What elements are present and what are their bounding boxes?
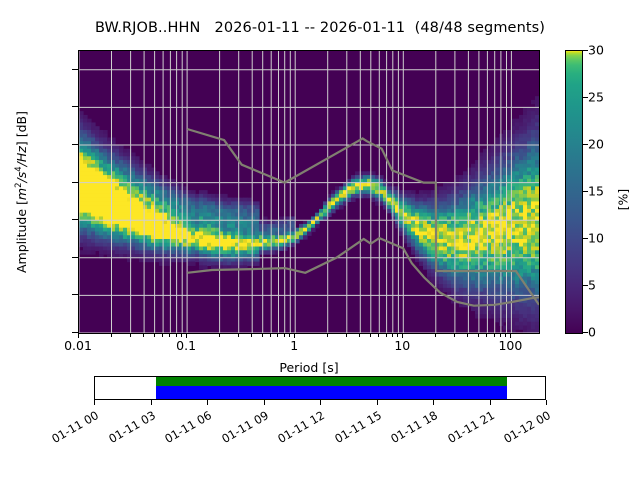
colorbar-title: [%]: [615, 189, 630, 211]
colorbar-tick-label: 25: [588, 90, 604, 105]
x-tick-mark: [130, 334, 131, 337]
timeline-tick-mark: [433, 400, 434, 405]
x-tick-mark: [467, 334, 468, 337]
ppsd-canvas: [79, 51, 539, 333]
x-tick-mark: [169, 334, 170, 337]
x-tick-mark: [359, 334, 360, 337]
y-tick-mark: [72, 69, 78, 70]
colorbar-tick-label: 30: [588, 43, 604, 58]
ppsd-figure: BW.RJOB..HHN 2026-01-11 -- 2026-01-11 (4…: [0, 0, 640, 480]
timeline-tick-label: 01-11 03: [102, 408, 157, 448]
x-tick-mark: [435, 334, 436, 337]
colorbar-tick-label: 20: [588, 137, 604, 152]
x-tick-mark: [251, 334, 252, 337]
x-tick-mark: [111, 334, 112, 337]
timeline-tick-mark: [546, 400, 547, 405]
x-tick-mark: [262, 334, 263, 337]
colorbar-gradient: [566, 51, 582, 333]
x-tick-mark: [154, 334, 155, 337]
x-tick-mark: [494, 334, 495, 337]
timeline-tick-mark: [320, 400, 321, 405]
timeline-tick-mark: [490, 400, 491, 405]
x-tick-mark: [270, 334, 271, 337]
colorbar-tick-mark: [583, 285, 588, 286]
x-tick-mark: [397, 334, 398, 337]
timeline-tick-label: 01-11 18: [385, 408, 440, 448]
coverage-timeline[interactable]: [94, 376, 546, 400]
timeline-tick-label: 01-12 00: [498, 408, 553, 448]
y-tick-mark: [72, 294, 78, 295]
x-tick-label: 1: [290, 338, 298, 353]
x-tick-label: 0.01: [64, 338, 92, 353]
colorbar-tick-mark: [583, 97, 588, 98]
x-tick-mark: [478, 334, 479, 337]
colorbar-tick-mark: [583, 238, 588, 239]
x-tick-mark: [143, 334, 144, 337]
x-tick-mark: [162, 334, 163, 337]
x-tick-mark: [238, 334, 239, 337]
x-tick-mark: [505, 334, 506, 337]
colorbar-tick-label: 5: [588, 278, 596, 293]
colorbar-tick-label: 0: [588, 325, 596, 340]
timeline-tick-label: 01-11 21: [441, 408, 496, 448]
timeline-tick-mark: [94, 400, 95, 405]
timeline-tick-label: 01-11 00: [46, 408, 101, 448]
y-tick-mark: [72, 182, 78, 183]
timeline-tick-label: 01-11 15: [328, 408, 383, 448]
timeline-tick-mark: [207, 400, 208, 405]
colorbar[interactable]: [565, 50, 583, 334]
colorbar-tick-mark: [583, 191, 588, 192]
ppsd-density-cloud: [79, 96, 539, 333]
x-tick-mark: [289, 334, 290, 337]
x-tick-mark: [219, 334, 220, 337]
x-tick-mark: [378, 334, 379, 337]
x-tick-label: 10: [394, 338, 410, 353]
timeline-data-available: [156, 386, 507, 399]
y-axis-title: Amplitude [m2/s4/Hz] [dB]: [14, 50, 29, 334]
x-tick-mark: [284, 334, 285, 337]
timeline-tick-mark: [377, 400, 378, 405]
x-tick-label: 100: [498, 338, 522, 353]
x-tick-mark: [486, 334, 487, 337]
x-tick-mark: [370, 334, 371, 337]
colorbar-tick-mark: [583, 144, 588, 145]
x-tick-mark: [176, 334, 177, 337]
x-tick-mark: [181, 334, 182, 337]
x-tick-mark: [277, 334, 278, 337]
y-tick-mark: [72, 257, 78, 258]
y-tick-mark: [72, 144, 78, 145]
figure-title: BW.RJOB..HHN 2026-01-11 -- 2026-01-11 (4…: [0, 20, 640, 36]
x-tick-mark: [346, 334, 347, 337]
x-tick-mark: [386, 334, 387, 337]
x-tick-label: 0.1: [176, 338, 196, 353]
y-tick-mark: [72, 219, 78, 220]
colorbar-tick-mark: [583, 332, 588, 333]
x-tick-mark: [500, 334, 501, 337]
colorbar-tick-mark: [583, 50, 588, 51]
timeline-used-segments: [156, 377, 507, 386]
y-tick-mark: [72, 106, 78, 107]
y-tick-mark: [72, 332, 78, 333]
timeline-tick-mark: [151, 400, 152, 405]
timeline-tick-label: 01-11 09: [215, 408, 270, 448]
x-tick-mark: [454, 334, 455, 337]
x-tick-mark: [392, 334, 393, 337]
timeline-tick-label: 01-11 06: [159, 408, 214, 448]
x-tick-mark: [327, 334, 328, 337]
colorbar-tick-label: 10: [588, 231, 604, 246]
timeline-tick-label: 01-11 12: [272, 408, 327, 448]
colorbar-tick-label: 15: [588, 184, 604, 199]
ppsd-plot-area[interactable]: [78, 50, 540, 334]
x-axis-title: Period [s]: [78, 360, 540, 375]
timeline-tick-mark: [264, 400, 265, 405]
